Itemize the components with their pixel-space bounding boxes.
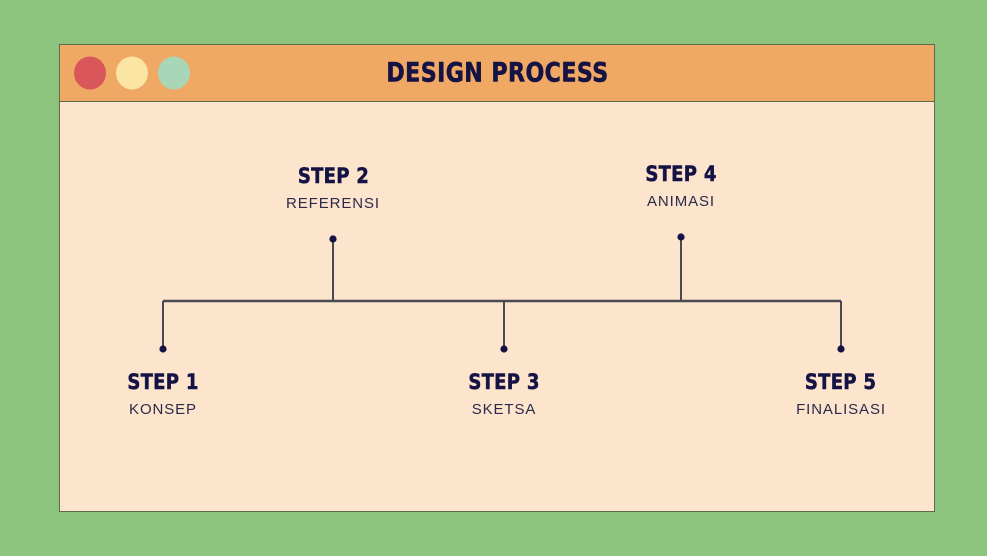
step-title-5: STEP 5	[796, 370, 886, 394]
step-label-5[interactable]: STEP 5FINALISASI	[796, 370, 886, 418]
step-title-text-1: STEP 1	[127, 370, 198, 394]
step-desc-2: REFERENSI	[286, 195, 380, 212]
step-title-text-5: STEP 5	[805, 370, 876, 394]
step-label-3[interactable]: STEP 3SKETSA	[463, 370, 546, 418]
step-label-1[interactable]: STEP 1KONSEP	[122, 370, 205, 418]
step-label-2[interactable]: STEP 2REFERENSI	[286, 164, 380, 212]
step-label-4[interactable]: STEP 4ANIMASI	[640, 162, 723, 210]
step-desc-5: FINALISASI	[796, 401, 886, 418]
window-title-bar: DESIGN PROCESS	[60, 45, 934, 102]
timeline-connectors	[60, 102, 933, 511]
window-card: DESIGN PROCESS STEP 1KONSEPSTEP 2REFEREN…	[59, 44, 935, 512]
timeline-node-3	[500, 345, 507, 352]
window-title-text: DESIGN PROCESS	[386, 58, 608, 89]
step-title-4: STEP 4	[640, 162, 723, 186]
window-body: STEP 1KONSEPSTEP 2REFERENSISTEP 3SKETSAS…	[60, 102, 934, 511]
step-desc-4: ANIMASI	[640, 193, 723, 210]
step-title-text-2: STEP 2	[297, 164, 368, 188]
step-desc-3: SKETSA	[463, 401, 546, 418]
timeline-node-5	[837, 345, 844, 352]
timeline-node-4	[677, 233, 684, 240]
timeline-node-2	[329, 235, 336, 242]
step-title-2: STEP 2	[286, 164, 380, 188]
step-desc-1: KONSEP	[122, 401, 205, 418]
screenshot-root: DESIGN PROCESS STEP 1KONSEPSTEP 2REFEREN…	[0, 0, 987, 556]
timeline-diagram: STEP 1KONSEPSTEP 2REFERENSISTEP 3SKETSAS…	[60, 102, 934, 511]
step-title-1: STEP 1	[122, 370, 205, 394]
step-title-text-3: STEP 3	[468, 370, 539, 394]
step-title-3: STEP 3	[463, 370, 546, 394]
step-title-text-4: STEP 4	[645, 162, 716, 186]
timeline-node-1	[159, 345, 166, 352]
window-title: DESIGN PROCESS	[60, 58, 934, 89]
